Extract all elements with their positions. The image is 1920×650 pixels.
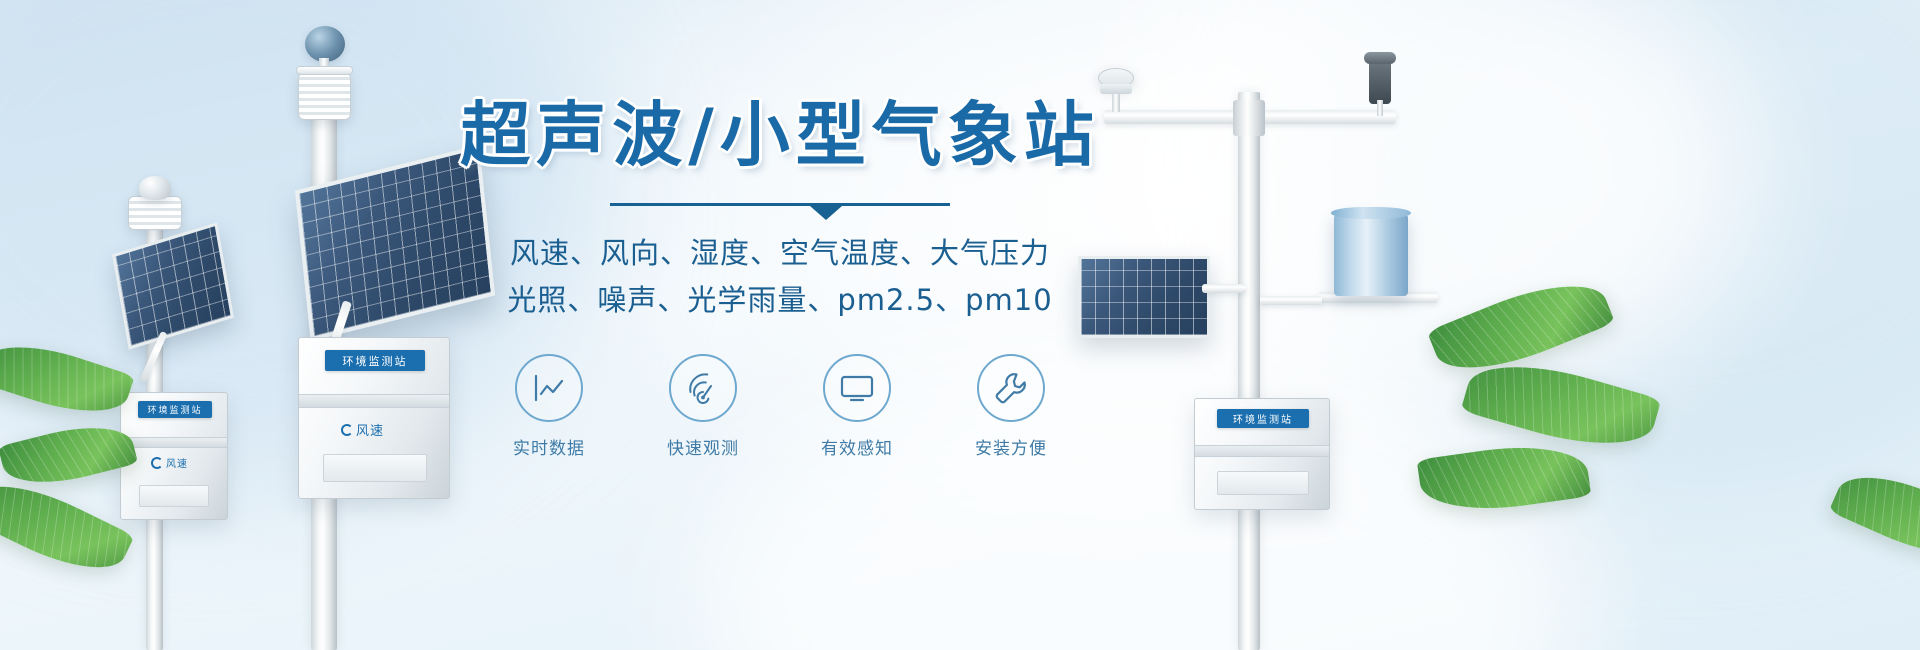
page-title: 超声波/小型气象站 <box>430 96 1130 174</box>
sensor-dome-left <box>139 176 171 200</box>
feature-list: 实时数据 快速观测 <box>430 354 1130 459</box>
banner-content: 超声波/小型气象站 风速、风向、湿度、空气温度、大气压力 光照、噪声、光学雨量、… <box>430 96 1130 459</box>
divider-line <box>610 203 950 206</box>
monitor-screen-icon <box>839 373 875 403</box>
enclosure-vent-right <box>1217 471 1309 495</box>
divider-arrow-down-icon <box>810 206 842 220</box>
anemometer-base-right <box>1100 84 1132 94</box>
wind-vane-cup-right <box>1364 52 1396 64</box>
product-label-left: 环境监测站 <box>138 401 212 418</box>
enclosure-strip-center <box>299 394 449 408</box>
enclosure-box-right: 环境监测站 <box>1194 398 1330 510</box>
enclosure-vent-center <box>323 454 427 482</box>
rain-gauge-right <box>1334 214 1408 296</box>
enclosure-strip-right <box>1195 445 1329 457</box>
feature-label-1: 实时数据 <box>494 434 604 459</box>
product-label-right: 环境监测站 <box>1217 409 1309 428</box>
wrench-icon <box>994 371 1028 405</box>
ultrasonic-head-center <box>305 26 345 62</box>
feature-circle-3 <box>823 354 891 422</box>
mast-pole-right <box>1238 92 1260 650</box>
feature-item-effective-sensing[interactable]: 有效感知 <box>802 354 912 459</box>
radar-signal-icon <box>686 372 720 404</box>
brand-circle-icon-left <box>151 457 163 469</box>
subtitle-line-1: 风速、风向、湿度、空气温度、大气压力 <box>430 230 1130 277</box>
leaf-bottom-left-3 <box>0 466 135 588</box>
feature-item-realtime-data[interactable]: 实时数据 <box>494 354 604 459</box>
arm-collar-right <box>1233 100 1265 136</box>
rain-gauge-funnel-right <box>1331 207 1411 219</box>
enclosure-box-center: 环境监测站 风速 <box>298 337 450 499</box>
feature-circle-2 <box>669 354 737 422</box>
line-chart-icon <box>532 373 566 403</box>
feature-label-2: 快速观测 <box>648 434 758 459</box>
enclosure-strip-left <box>121 437 227 448</box>
feature-item-easy-installation[interactable]: 安装方便 <box>956 354 1066 459</box>
brand-logo-center-text: 风速 <box>356 420 384 439</box>
feature-label-4: 安装方便 <box>956 434 1066 459</box>
vane-stem-right <box>1377 100 1383 116</box>
feature-item-quick-observation[interactable]: 快速观测 <box>648 354 758 459</box>
leaf-bottom-left-1 <box>0 330 135 427</box>
leaf-right-4 <box>1829 458 1920 572</box>
subtitle-line-2: 光照、噪声、光学雨量、pm2.5、pm10 <box>430 277 1130 324</box>
leaf-bottom-left-2 <box>0 415 138 495</box>
panel-arm-right <box>1202 284 1246 293</box>
brand-logo-center: 风速 <box>341 420 384 439</box>
radiation-shield-left <box>128 196 182 230</box>
feature-circle-4 <box>977 354 1045 422</box>
shield-cap-center <box>296 66 353 75</box>
brand-logo-left-text: 风速 <box>166 455 188 470</box>
weather-station-banner: 环境监测站 风速 环境监测站 风速 <box>0 0 1920 650</box>
feature-label-3: 有效感知 <box>802 434 912 459</box>
brand-circle-icon-center <box>341 424 353 436</box>
solar-panel-left <box>112 222 234 349</box>
radiation-shield-center <box>298 72 351 120</box>
enclosure-vent-left <box>139 485 209 507</box>
product-label-center: 环境监测站 <box>325 350 425 371</box>
feature-circle-1 <box>515 354 583 422</box>
shelf-support-right <box>1260 296 1322 305</box>
brand-logo-left: 风速 <box>151 455 188 470</box>
title-divider <box>610 200 950 216</box>
leaf-right-3 <box>1417 437 1592 520</box>
wind-vane-right <box>1369 58 1391 104</box>
